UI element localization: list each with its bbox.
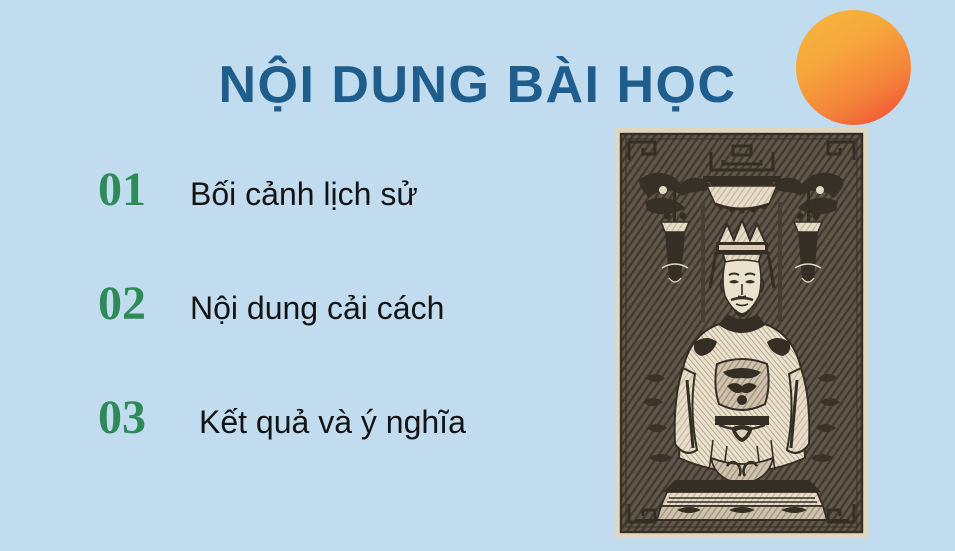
agenda-number-03: 03 — [98, 394, 190, 442]
list-item[interactable]: 03 Kết quả và ý nghĩa — [0, 394, 600, 508]
list-item[interactable]: 01 Bối cảnh lịch sử — [0, 166, 600, 280]
agenda-label-02: Nội dung cải cách — [190, 292, 444, 324]
agenda-label-01: Bối cảnh lịch sử — [190, 178, 418, 210]
agenda-list: 01 Bối cảnh lịch sử 02 Nội dung cải cách… — [0, 166, 600, 508]
woodblock-portrait-illustration — [615, 128, 868, 538]
page-title: NỘI DUNG BÀI HỌC — [0, 55, 955, 115]
agenda-number-02: 02 — [98, 280, 190, 328]
agenda-number-01: 01 — [98, 166, 190, 214]
list-item[interactable]: 02 Nội dung cải cách — [0, 280, 600, 394]
agenda-label-03: Kết quả và ý nghĩa — [190, 406, 466, 438]
emperor-woodblock-portrait-image — [615, 128, 868, 538]
slide-canvas: NỘI DUNG BÀI HỌC 01 Bối cảnh lịch sử 02 … — [0, 0, 955, 551]
